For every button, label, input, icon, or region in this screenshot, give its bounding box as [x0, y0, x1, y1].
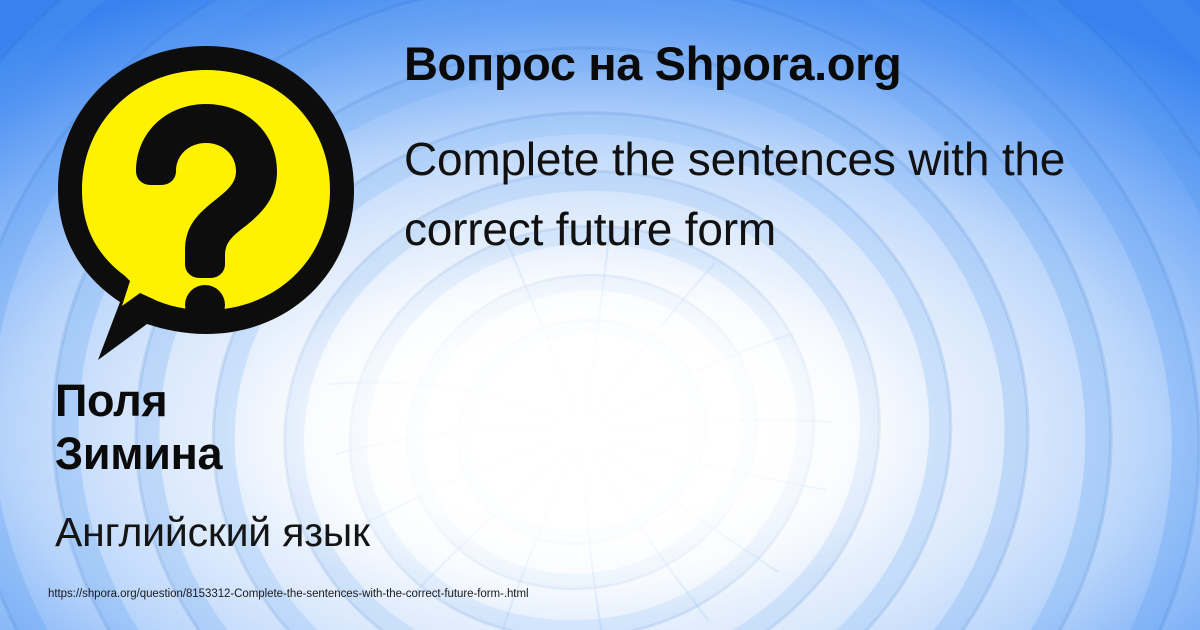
question-speech-bubble-icon: [46, 38, 368, 370]
subject-label: Английский язык: [55, 508, 385, 557]
question-text: Complete the sentences with the correct …: [404, 125, 1179, 265]
meta-column: Поля Зимина Английский язык: [55, 375, 385, 557]
question-mark-dot: [185, 285, 225, 325]
share-card: Вопрос на Shpora.org Complete the senten…: [0, 0, 1200, 630]
page-title: Вопрос на Shpora.org: [404, 40, 1184, 89]
source-url: https://shpora.org/question/8153312-Comp…: [48, 589, 529, 601]
header-column: Вопрос на Shpora.org Complete the senten…: [404, 40, 1184, 265]
author-name: Поля Зимина: [55, 375, 305, 480]
